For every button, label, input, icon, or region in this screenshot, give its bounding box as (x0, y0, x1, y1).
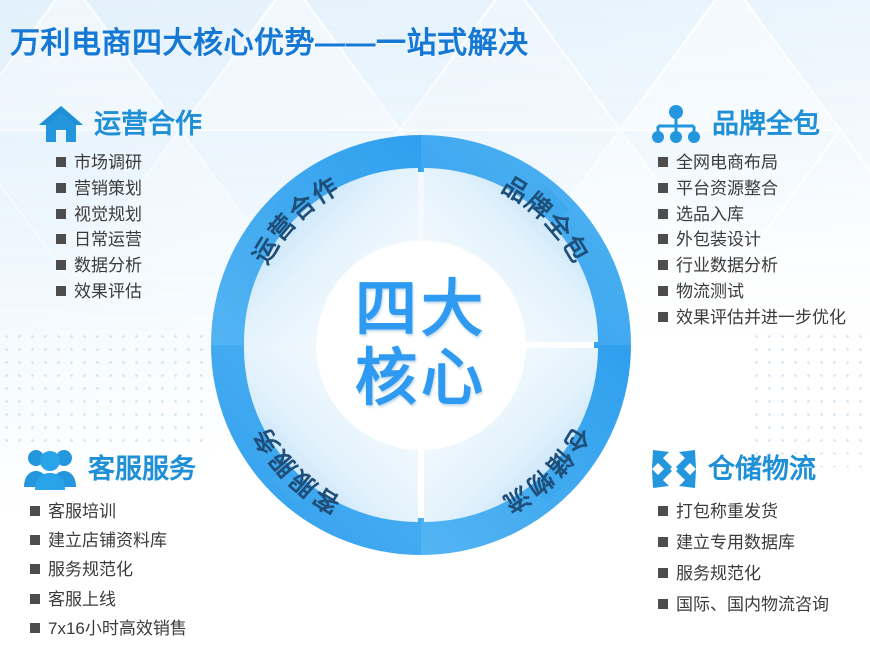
block-brand: 品牌全包 全网电商布局 平台资源整合 选品入库 外包装设计 行业数据分析 物流测… (650, 104, 846, 331)
bullet-icon (30, 594, 40, 604)
list-item-label: 营销策划 (74, 176, 142, 202)
list-item-label: 建立店铺资料库 (48, 526, 167, 555)
four-way-arrows-icon (650, 447, 698, 491)
list-item-label: 市场调研 (74, 150, 142, 176)
list-item: 国际、国内物流咨询 (658, 590, 829, 621)
list-item: 外包装设计 (658, 227, 846, 253)
block-brand-title: 品牌全包 (712, 111, 820, 138)
block-operation-header: 运营合作 (38, 104, 202, 144)
bullet-icon (56, 286, 66, 296)
list-item: 营销策划 (56, 176, 202, 202)
bullet-icon (56, 209, 66, 219)
list-item-label: 平台资源整合 (676, 176, 778, 202)
list-item-label: 全网电商布局 (676, 150, 778, 176)
list-item-label: 行业数据分析 (676, 253, 778, 279)
infographic-page: 万利电商四大核心优势——一站式解决 (0, 0, 870, 672)
list-item: 物流测试 (658, 279, 846, 305)
list-item-label: 打包称重发货 (676, 497, 778, 528)
bullet-icon (56, 183, 66, 193)
bullet-icon (658, 599, 668, 609)
bullet-icon (658, 157, 668, 167)
background-dots-left (0, 330, 210, 450)
bullet-icon (56, 157, 66, 167)
list-item-label: 国际、国内物流咨询 (676, 590, 829, 621)
bullet-icon (658, 506, 668, 516)
list-item-label: 服务规范化 (676, 559, 761, 590)
list-item-label: 数据分析 (74, 253, 142, 279)
block-service-list: 客服培训 建立店铺资料库 服务规范化 客服上线 7x16小时高效销售 (30, 497, 196, 643)
list-item-label: 客服培训 (48, 497, 116, 526)
block-operation-list: 市场调研 营销策划 视觉规划 日常运营 数据分析 效果评估 (56, 150, 202, 305)
bullet-icon (658, 209, 668, 219)
list-item-label: 7x16小时高效销售 (48, 614, 187, 643)
home-icon (38, 104, 84, 144)
page-title: 万利电商四大核心优势——一站式解决 (10, 18, 529, 62)
list-item-label: 外包装设计 (676, 227, 761, 253)
list-item-label: 视觉规划 (74, 202, 142, 228)
core-donut-diagram: 运营合作 品牌全包 客服服务 仓储物流 四大 核心 (196, 120, 646, 570)
bullet-icon (56, 234, 66, 244)
list-item: 数据分析 (56, 253, 202, 279)
bullet-icon (658, 183, 668, 193)
list-item: 服务规范化 (658, 559, 829, 590)
block-operation-title: 运营合作 (94, 111, 202, 138)
block-logistics-title: 仓储物流 (708, 456, 816, 483)
bullet-icon (30, 564, 40, 574)
list-item-label: 客服上线 (48, 585, 116, 614)
block-service-header: 客服服务 (22, 447, 196, 491)
bullet-icon (30, 623, 40, 633)
list-item: 效果评估并进一步优化 (658, 305, 846, 331)
list-item-label: 效果评估 (74, 279, 142, 305)
list-item: 全网电商布局 (658, 150, 846, 176)
block-service-title: 客服服务 (88, 456, 196, 483)
list-item: 7x16小时高效销售 (30, 614, 196, 643)
list-item: 市场调研 (56, 150, 202, 176)
list-item: 客服上线 (30, 585, 196, 614)
list-item: 服务规范化 (30, 555, 196, 584)
bullet-icon (658, 312, 668, 322)
list-item: 建立专用数据库 (658, 528, 829, 559)
list-item-label: 选品入库 (676, 202, 744, 228)
bullet-icon (658, 286, 668, 296)
list-item-label: 建立专用数据库 (676, 528, 795, 559)
list-item: 建立店铺资料库 (30, 526, 196, 555)
block-service: 客服服务 客服培训 建立店铺资料库 服务规范化 客服上线 7x16小时高效销售 (22, 447, 196, 643)
list-item: 平台资源整合 (658, 176, 846, 202)
people-group-icon (22, 447, 78, 491)
list-item-label: 效果评估并进一步优化 (676, 305, 846, 331)
list-item: 行业数据分析 (658, 253, 846, 279)
bullet-icon (30, 506, 40, 516)
block-logistics-list: 打包称重发货 建立专用数据库 服务规范化 国际、国内物流咨询 (658, 497, 829, 621)
bullet-icon (658, 260, 668, 270)
block-logistics-header: 仓储物流 (650, 447, 829, 491)
list-item: 客服培训 (30, 497, 196, 526)
org-chart-icon (650, 104, 702, 144)
list-item: 打包称重发货 (658, 497, 829, 528)
list-item-label: 物流测试 (676, 279, 744, 305)
list-item: 选品入库 (658, 202, 846, 228)
block-logistics: 仓储物流 打包称重发货 建立专用数据库 服务规范化 国际、国内物流咨询 (650, 447, 829, 621)
block-brand-list: 全网电商布局 平台资源整合 选品入库 外包装设计 行业数据分析 物流测试 效果评… (658, 150, 846, 331)
list-item: 日常运营 (56, 227, 202, 253)
bullet-icon (30, 535, 40, 545)
bullet-icon (658, 537, 668, 547)
bullet-icon (56, 260, 66, 270)
list-item-label: 日常运营 (74, 227, 142, 253)
bullet-icon (658, 234, 668, 244)
bullet-icon (658, 568, 668, 578)
block-brand-header: 品牌全包 (650, 104, 846, 144)
block-operation: 运营合作 市场调研 营销策划 视觉规划 日常运营 数据分析 效果评估 (38, 104, 202, 305)
list-item: 效果评估 (56, 279, 202, 305)
list-item-label: 服务规范化 (48, 555, 133, 584)
donut-center-disc (317, 241, 525, 449)
list-item: 视觉规划 (56, 202, 202, 228)
